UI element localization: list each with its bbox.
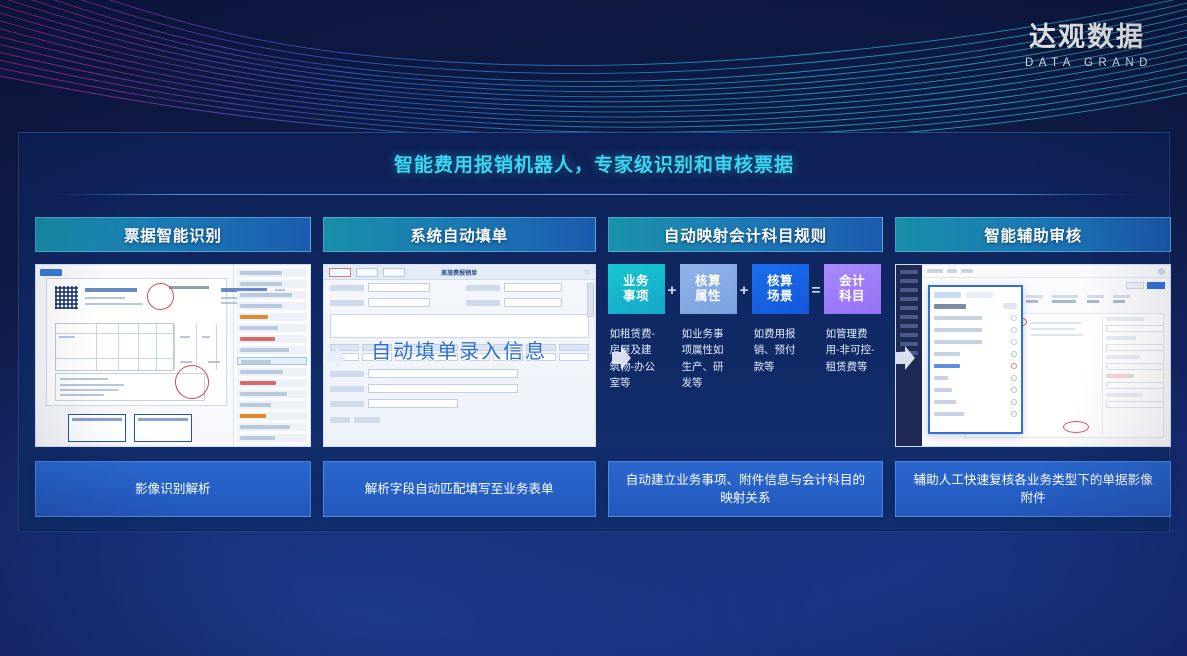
form-label xyxy=(330,401,364,407)
ocr-field-row[interactable] xyxy=(237,313,307,321)
column-caption-2: 解析字段自动匹配填写至业务表单 xyxy=(323,461,596,517)
column-header-2: 系统自动填单 xyxy=(323,217,596,252)
column-header-1: 票据智能识别 xyxy=(35,217,311,252)
ocr-field-row[interactable] xyxy=(237,335,307,343)
mapping-item-4: 会计 科目 如管理费用-非可控-租赁费等 xyxy=(824,264,881,375)
mapping-desc-2: 如业务事项属性如生产、研发等 xyxy=(680,326,737,391)
mapping-desc-4: 如管理费用-非可控-租赁费等 xyxy=(824,326,881,375)
column-header-4: 智能辅助审核 xyxy=(895,217,1171,252)
form-label xyxy=(330,371,364,377)
mapping-box-line1: 业务 xyxy=(623,274,649,289)
ticket-thumb-2 xyxy=(134,414,192,442)
mapping-box-accounting-subject[interactable]: 会计 科目 xyxy=(824,264,881,314)
form-label xyxy=(330,285,364,291)
mapping-box-line1: 核算 xyxy=(695,274,721,289)
ocr-field-row-selected[interactable] xyxy=(237,357,307,365)
form-input[interactable] xyxy=(504,298,562,307)
form-overlay-text: 自动填单录入信息 xyxy=(324,335,595,364)
ocr-field-row[interactable] xyxy=(237,401,307,409)
column-invoice-recognition: 票据智能识别 xyxy=(35,217,311,517)
flow-arrow-2 xyxy=(610,345,632,371)
column-auto-form-fill: 系统自动填单 差旅费报销单 ▢ xyxy=(323,217,596,517)
mapping-box-line1: 核算 xyxy=(767,274,793,289)
flow-arrow-1 xyxy=(325,345,347,371)
brand-name-cn: 达观数据 xyxy=(1021,22,1153,53)
form-side-tab[interactable] xyxy=(587,283,594,317)
ocr-field-row[interactable] xyxy=(237,302,307,310)
form-delete-button[interactable] xyxy=(383,268,405,277)
form-input[interactable] xyxy=(368,369,518,378)
page-title: 智能费用报销机器人，专家级识别和审核票据 xyxy=(19,133,1169,177)
audit-check-row[interactable] xyxy=(934,387,1017,393)
brand-logo: 达观数据 DATA GRAND xyxy=(1021,22,1153,69)
tab-review-items[interactable] xyxy=(934,292,961,298)
manual-toggle[interactable] xyxy=(1003,303,1017,309)
form-submit-button[interactable] xyxy=(356,268,378,277)
audit-checklist-card[interactable] xyxy=(928,285,1023,434)
mapping-desc-3: 如费用报销、预付款等 xyxy=(752,326,809,375)
audit-right-panel[interactable] xyxy=(1102,317,1164,436)
mapping-operator-plus-2: + xyxy=(737,264,752,299)
mapping-item-2: 核算 属性 如业务事项属性如生产、研发等 xyxy=(680,264,737,391)
audit-check-row-active[interactable] xyxy=(934,363,1017,369)
mapping-operator-equals: = xyxy=(809,264,824,299)
qr-code-icon xyxy=(55,286,78,309)
flow-arrow-3 xyxy=(894,345,916,371)
audit-action-buttons[interactable] xyxy=(1126,282,1165,289)
audit-secondary-button[interactable] xyxy=(1126,282,1144,289)
form-input[interactable] xyxy=(504,283,562,292)
form-input[interactable] xyxy=(368,399,458,408)
ocr-tag-badge xyxy=(40,269,62,276)
column-caption-3: 自动建立业务事项、附件信息与会计科目的映射关系 xyxy=(608,461,884,517)
audit-check-row[interactable] xyxy=(934,375,1017,381)
form-label xyxy=(466,300,500,306)
form-label xyxy=(466,285,500,291)
mapping-box-line2: 属性 xyxy=(695,289,721,304)
annotation-circle-2 xyxy=(1063,421,1089,433)
audit-check-row[interactable] xyxy=(934,411,1017,417)
mapping-item-1: 业务 事项 如租赁费-房屋及建筑物-办公室等 xyxy=(608,264,665,391)
ocr-field-row[interactable] xyxy=(237,269,307,277)
tab-material-list[interactable] xyxy=(966,292,993,298)
audit-card-header-row xyxy=(934,303,1017,309)
form-label xyxy=(330,300,364,306)
decorative-wave xyxy=(0,0,1187,150)
avatar[interactable] xyxy=(1158,268,1165,275)
title-divider xyxy=(53,194,1135,195)
ocr-field-row[interactable] xyxy=(237,434,307,442)
mapping-box-line1: 会计 xyxy=(839,274,865,289)
audit-check-row[interactable] xyxy=(934,399,1017,405)
screenshot-auto-form: 差旅费报销单 ▢ xyxy=(323,264,596,447)
form-save-button[interactable] xyxy=(329,268,351,277)
mapping-box-line2: 科目 xyxy=(839,289,865,304)
mapping-formula: 业务 事项 如租赁费-房屋及建筑物-办公室等 + 核算 属性 如业务事项属性如生… xyxy=(608,264,884,447)
form-checkbox-label xyxy=(354,417,380,423)
ocr-field-row[interactable] xyxy=(237,390,307,398)
mapping-item-3: 核算 场景 如费用报销、预付款等 xyxy=(752,264,809,375)
main-panel: 智能费用报销机器人，专家级识别和审核票据 票据智能识别 xyxy=(18,132,1170,532)
mapping-box-business-item[interactable]: 业务 事项 xyxy=(608,264,665,314)
mapping-box-accounting-scenario[interactable]: 核算 场景 xyxy=(752,264,809,314)
column-caption-4: 辅助人工快速复核各业务类型下的单据影像附件 xyxy=(895,461,1171,517)
audit-breadcrumb-bar xyxy=(922,265,1170,278)
invoice-image xyxy=(46,278,227,406)
form-input[interactable] xyxy=(368,384,518,393)
form-title: 差旅费报销单 xyxy=(441,268,477,277)
audit-check-row[interactable] xyxy=(934,315,1017,321)
ocr-field-row[interactable] xyxy=(237,379,307,387)
form-label xyxy=(330,386,364,392)
ocr-field-row[interactable] xyxy=(237,280,307,288)
ocr-field-row[interactable] xyxy=(237,324,307,332)
ocr-field-row[interactable] xyxy=(237,346,307,354)
audit-check-row[interactable] xyxy=(934,351,1017,357)
mapping-box-line2: 事项 xyxy=(623,289,649,304)
ocr-field-row[interactable] xyxy=(237,368,307,376)
audit-primary-button[interactable] xyxy=(1147,282,1165,289)
ocr-field-row[interactable] xyxy=(237,445,307,447)
screenshot-invoice-ocr xyxy=(35,264,311,447)
ticket-thumb-1 xyxy=(68,414,126,442)
mapping-box-line2: 场景 xyxy=(767,289,793,304)
ticket-thumbnails xyxy=(68,414,192,442)
form-toolbar[interactable]: 差旅费报销单 ▢ xyxy=(324,265,595,280)
column-accounting-mapping: 自动映射会计科目规则 业务 事项 如租赁费-房屋及建筑物-办公室等 + 核算 属… xyxy=(608,217,884,517)
audit-check-row[interactable] xyxy=(934,339,1017,345)
form-meta: ▢ xyxy=(585,269,589,275)
column-audit-assist: 智能辅助审核 xyxy=(895,217,1171,517)
form-checkbox-label xyxy=(330,417,350,423)
ocr-field-sidebar[interactable] xyxy=(233,265,310,446)
process-columns: 票据智能识别 xyxy=(19,217,1171,517)
form-input[interactable] xyxy=(368,283,430,292)
mapping-operator-plus-1: + xyxy=(665,264,680,299)
mapping-box-accounting-attribute[interactable]: 核算 属性 xyxy=(680,264,737,314)
ocr-field-row[interactable] xyxy=(237,412,307,420)
screenshot-audit-review: 注释 xyxy=(895,264,1171,447)
invoice-table xyxy=(55,323,174,371)
ocr-field-row[interactable] xyxy=(237,291,307,299)
audit-card-tabs[interactable] xyxy=(934,292,1017,298)
audit-check-row[interactable] xyxy=(934,327,1017,333)
column-caption-1: 影像识别解析 xyxy=(35,461,311,517)
brand-name-en: DATA GRAND xyxy=(1021,57,1153,69)
column-header-3: 自动映射会计科目规则 xyxy=(608,217,884,252)
form-input[interactable] xyxy=(368,298,430,307)
ocr-field-row[interactable] xyxy=(237,423,307,431)
